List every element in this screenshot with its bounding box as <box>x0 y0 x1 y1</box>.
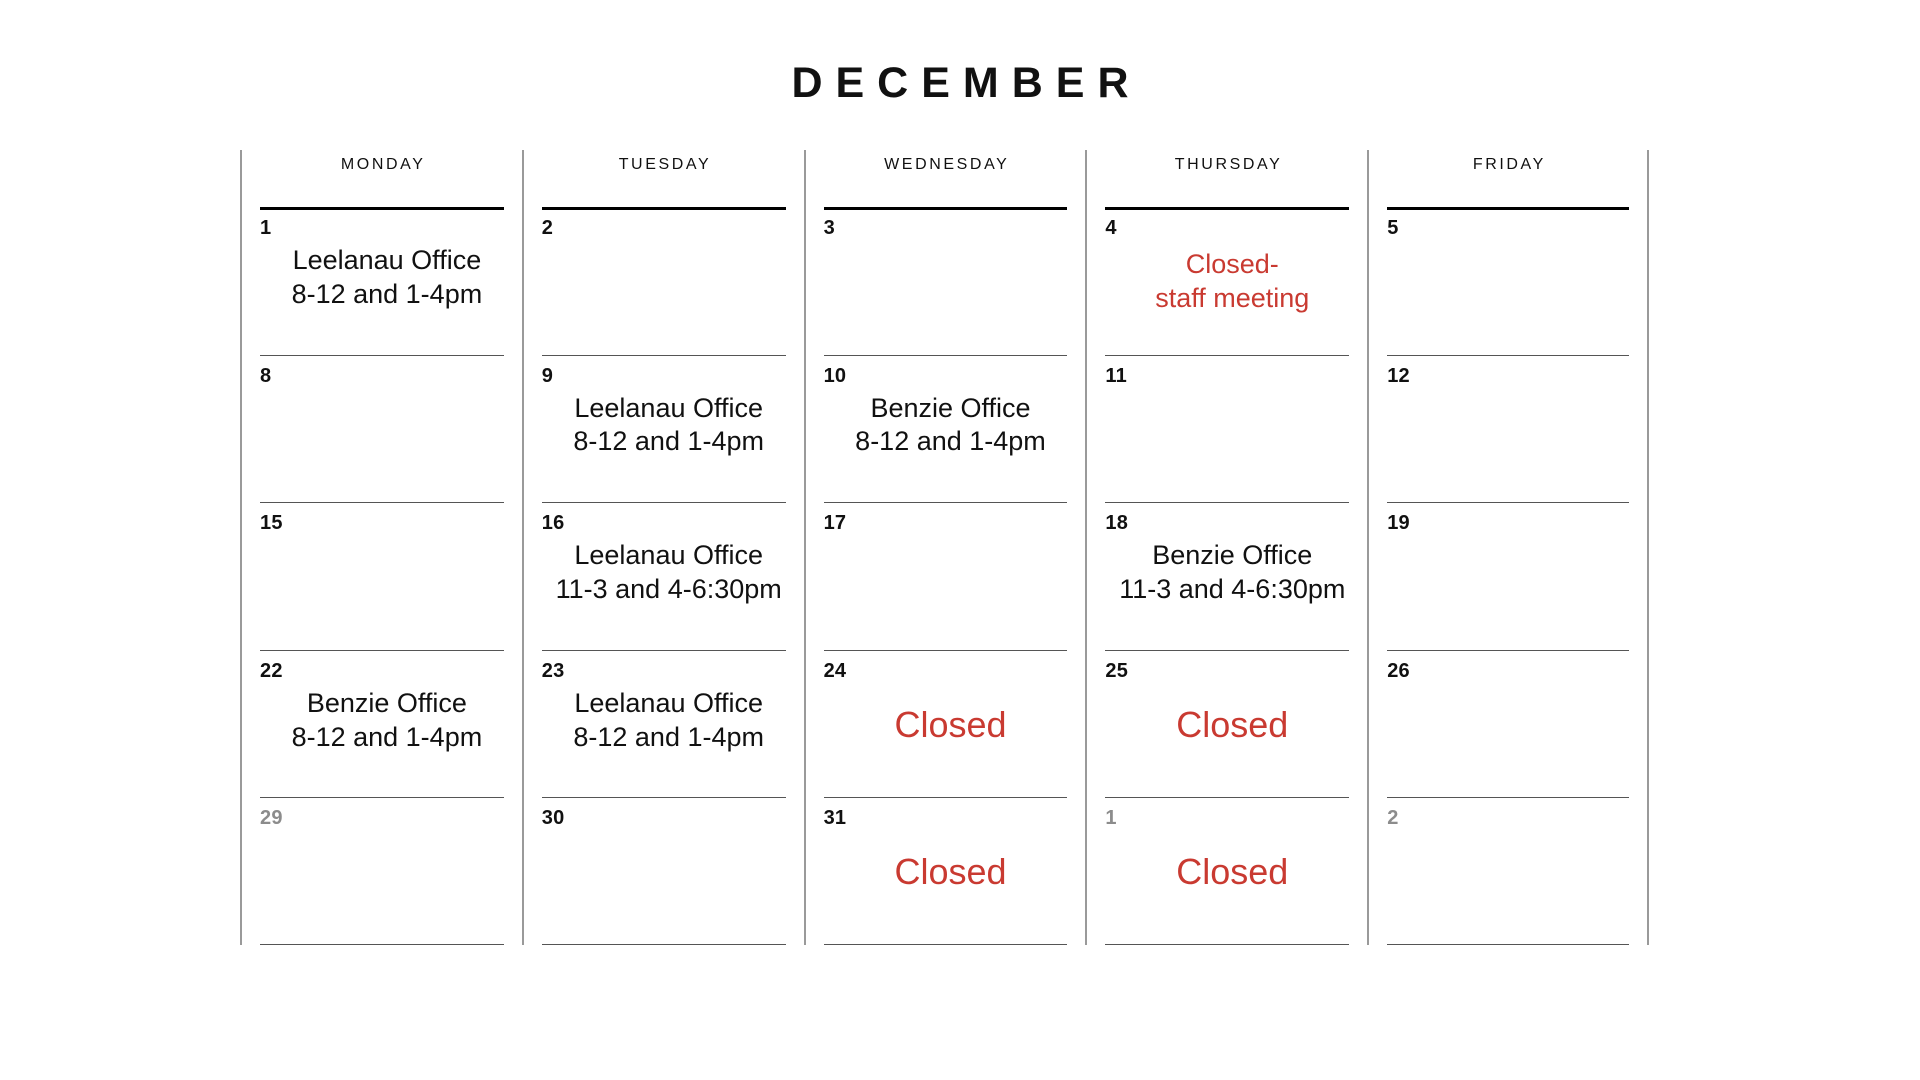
day-events: Closed <box>824 681 1068 798</box>
calendar-page: DECEMBER MONDAY1Leelanau Office8-12 and … <box>0 0 1920 1080</box>
day-events <box>1105 386 1349 503</box>
day-events <box>1387 681 1629 798</box>
day-column-thursday: THURSDAY4Closed-staff meeting1118Benzie … <box>1085 150 1367 945</box>
day-events <box>260 533 504 650</box>
calendar-day-cell[interactable]: 31Closed <box>806 797 1086 945</box>
calendar-day-cell[interactable]: 24Closed <box>806 650 1086 798</box>
closed-notice-line: Closed <box>894 850 1006 893</box>
weekday-header: WEDNESDAY <box>806 150 1086 207</box>
calendar-day-cell[interactable]: 26 <box>1369 650 1647 798</box>
day-number: 10 <box>824 355 1068 386</box>
day-events: Leelanau Office8-12 and 1-4pm <box>542 681 786 798</box>
day-events: Leelanau Office11-3 and 4-6:30pm <box>542 533 786 650</box>
weekday-header: TUESDAY <box>524 150 804 207</box>
page-title: DECEMBER <box>0 62 1920 105</box>
calendar-day-cell[interactable]: 19 <box>1369 502 1647 650</box>
weekday-header-label: FRIDAY <box>1470 156 1546 174</box>
day-number: 22 <box>260 650 504 681</box>
weekday-header-label: MONDAY <box>338 156 425 174</box>
calendar-day-cell[interactable]: 25Closed <box>1087 650 1367 798</box>
day-number: 31 <box>824 797 1068 828</box>
day-events: Closed <box>1105 681 1349 798</box>
day-events <box>1387 533 1629 650</box>
closed-notice-line: Closed <box>1176 850 1288 893</box>
weekday-header: MONDAY <box>242 150 522 207</box>
day-number: 16 <box>542 502 786 533</box>
day-events <box>1387 238 1629 355</box>
event-text-line: Benzie Office <box>307 687 467 721</box>
day-number: 1 <box>260 207 504 238</box>
day-number: 25 <box>1105 650 1349 681</box>
calendar-grid: MONDAY1Leelanau Office8-12 and 1-4pm8152… <box>240 150 1649 945</box>
day-number: 4 <box>1105 207 1349 238</box>
day-number: 29 <box>260 797 504 828</box>
day-events: Leelanau Office8-12 and 1-4pm <box>260 238 504 355</box>
event-text-line: Leelanau Office <box>293 244 482 278</box>
day-events: Benzie Office8-12 and 1-4pm <box>260 681 504 798</box>
calendar-day-cell[interactable]: 17 <box>806 502 1086 650</box>
calendar-day-cell[interactable]: 1Closed <box>1087 797 1367 945</box>
closed-notice-line: Closed- <box>1186 248 1279 282</box>
event-text-line: 8-12 and 1-4pm <box>855 425 1046 459</box>
day-events: Benzie Office11-3 and 4-6:30pm <box>1105 533 1349 650</box>
day-events <box>1387 828 1629 945</box>
day-number: 11 <box>1105 355 1349 386</box>
day-number: 17 <box>824 502 1068 533</box>
day-column-monday: MONDAY1Leelanau Office8-12 and 1-4pm8152… <box>240 150 522 945</box>
calendar-day-cell[interactable]: 22Benzie Office8-12 and 1-4pm <box>242 650 522 798</box>
day-events <box>260 828 504 945</box>
day-events: Closed <box>824 828 1068 945</box>
calendar-day-cell[interactable]: 8 <box>242 355 522 503</box>
event-text-line: 8-12 and 1-4pm <box>292 278 483 312</box>
closed-notice-line: staff meeting <box>1155 282 1309 316</box>
calendar-day-cell[interactable]: 10Benzie Office8-12 and 1-4pm <box>806 355 1086 503</box>
closed-notice-line: Closed <box>894 703 1006 746</box>
event-text-line: 8-12 and 1-4pm <box>573 721 764 755</box>
day-number: 8 <box>260 355 504 386</box>
weekday-header: FRIDAY <box>1369 150 1647 207</box>
day-events: Leelanau Office8-12 and 1-4pm <box>542 386 786 503</box>
day-number: 23 <box>542 650 786 681</box>
event-text-line: 11-3 and 4-6:30pm <box>556 573 782 607</box>
day-events <box>542 238 786 355</box>
day-number: 12 <box>1387 355 1629 386</box>
event-text-line: Leelanau Office <box>574 392 763 426</box>
calendar-day-cell[interactable]: 23Leelanau Office8-12 and 1-4pm <box>524 650 804 798</box>
calendar-day-cell[interactable]: 16Leelanau Office11-3 and 4-6:30pm <box>524 502 804 650</box>
event-text-line: Leelanau Office <box>574 539 763 573</box>
day-number: 24 <box>824 650 1068 681</box>
calendar-day-cell[interactable]: 18Benzie Office11-3 and 4-6:30pm <box>1087 502 1367 650</box>
day-number: 30 <box>542 797 786 828</box>
calendar-day-cell[interactable]: 3 <box>806 207 1086 355</box>
day-column-wednesday: WEDNESDAY310Benzie Office8-12 and 1-4pm1… <box>804 150 1086 945</box>
event-text-line: 8-12 and 1-4pm <box>573 425 764 459</box>
day-events <box>824 533 1068 650</box>
day-number: 18 <box>1105 502 1349 533</box>
calendar-day-cell[interactable]: 4Closed-staff meeting <box>1087 207 1367 355</box>
day-events <box>824 238 1068 355</box>
day-events: Closed <box>1105 828 1349 945</box>
day-number: 15 <box>260 502 504 533</box>
event-text-line: 8-12 and 1-4pm <box>292 721 483 755</box>
day-number: 9 <box>542 355 786 386</box>
weekday-header-label: TUESDAY <box>616 156 711 174</box>
event-text-line: 11-3 and 4-6:30pm <box>1119 573 1345 607</box>
calendar-day-cell[interactable]: 30 <box>524 797 804 945</box>
day-number: 1 <box>1105 797 1349 828</box>
day-number: 5 <box>1387 207 1629 238</box>
day-number: 2 <box>1387 797 1629 828</box>
day-events <box>260 386 504 503</box>
closed-notice-line: Closed <box>1176 703 1288 746</box>
day-events: Closed-staff meeting <box>1105 238 1349 355</box>
weekday-header-label: WEDNESDAY <box>882 156 1010 174</box>
calendar-day-cell[interactable]: 1Leelanau Office8-12 and 1-4pm <box>242 207 522 355</box>
calendar-day-cell[interactable]: 2 <box>524 207 804 355</box>
calendar-day-cell[interactable]: 12 <box>1369 355 1647 503</box>
day-column-tuesday: TUESDAY29Leelanau Office8-12 and 1-4pm16… <box>522 150 804 945</box>
calendar-day-cell[interactable]: 29 <box>242 797 522 945</box>
weekday-header-label: THURSDAY <box>1172 156 1282 174</box>
calendar-day-cell[interactable]: 2 <box>1369 797 1647 945</box>
weekday-header: THURSDAY <box>1087 150 1367 207</box>
day-events: Benzie Office8-12 and 1-4pm <box>824 386 1068 503</box>
calendar-day-cell[interactable]: 5 <box>1369 207 1647 355</box>
event-text-line: Benzie Office <box>1152 539 1312 573</box>
calendar-day-cell[interactable]: 11 <box>1087 355 1367 503</box>
day-events <box>1387 386 1629 503</box>
calendar-day-cell[interactable]: 15 <box>242 502 522 650</box>
day-number: 3 <box>824 207 1068 238</box>
event-text-line: Benzie Office <box>870 392 1030 426</box>
event-text-line: Leelanau Office <box>574 687 763 721</box>
day-number: 19 <box>1387 502 1629 533</box>
day-number: 2 <box>542 207 786 238</box>
day-events <box>542 828 786 945</box>
day-column-friday: FRIDAY51219262 <box>1367 150 1649 945</box>
day-number: 26 <box>1387 650 1629 681</box>
calendar-day-cell[interactable]: 9Leelanau Office8-12 and 1-4pm <box>524 355 804 503</box>
